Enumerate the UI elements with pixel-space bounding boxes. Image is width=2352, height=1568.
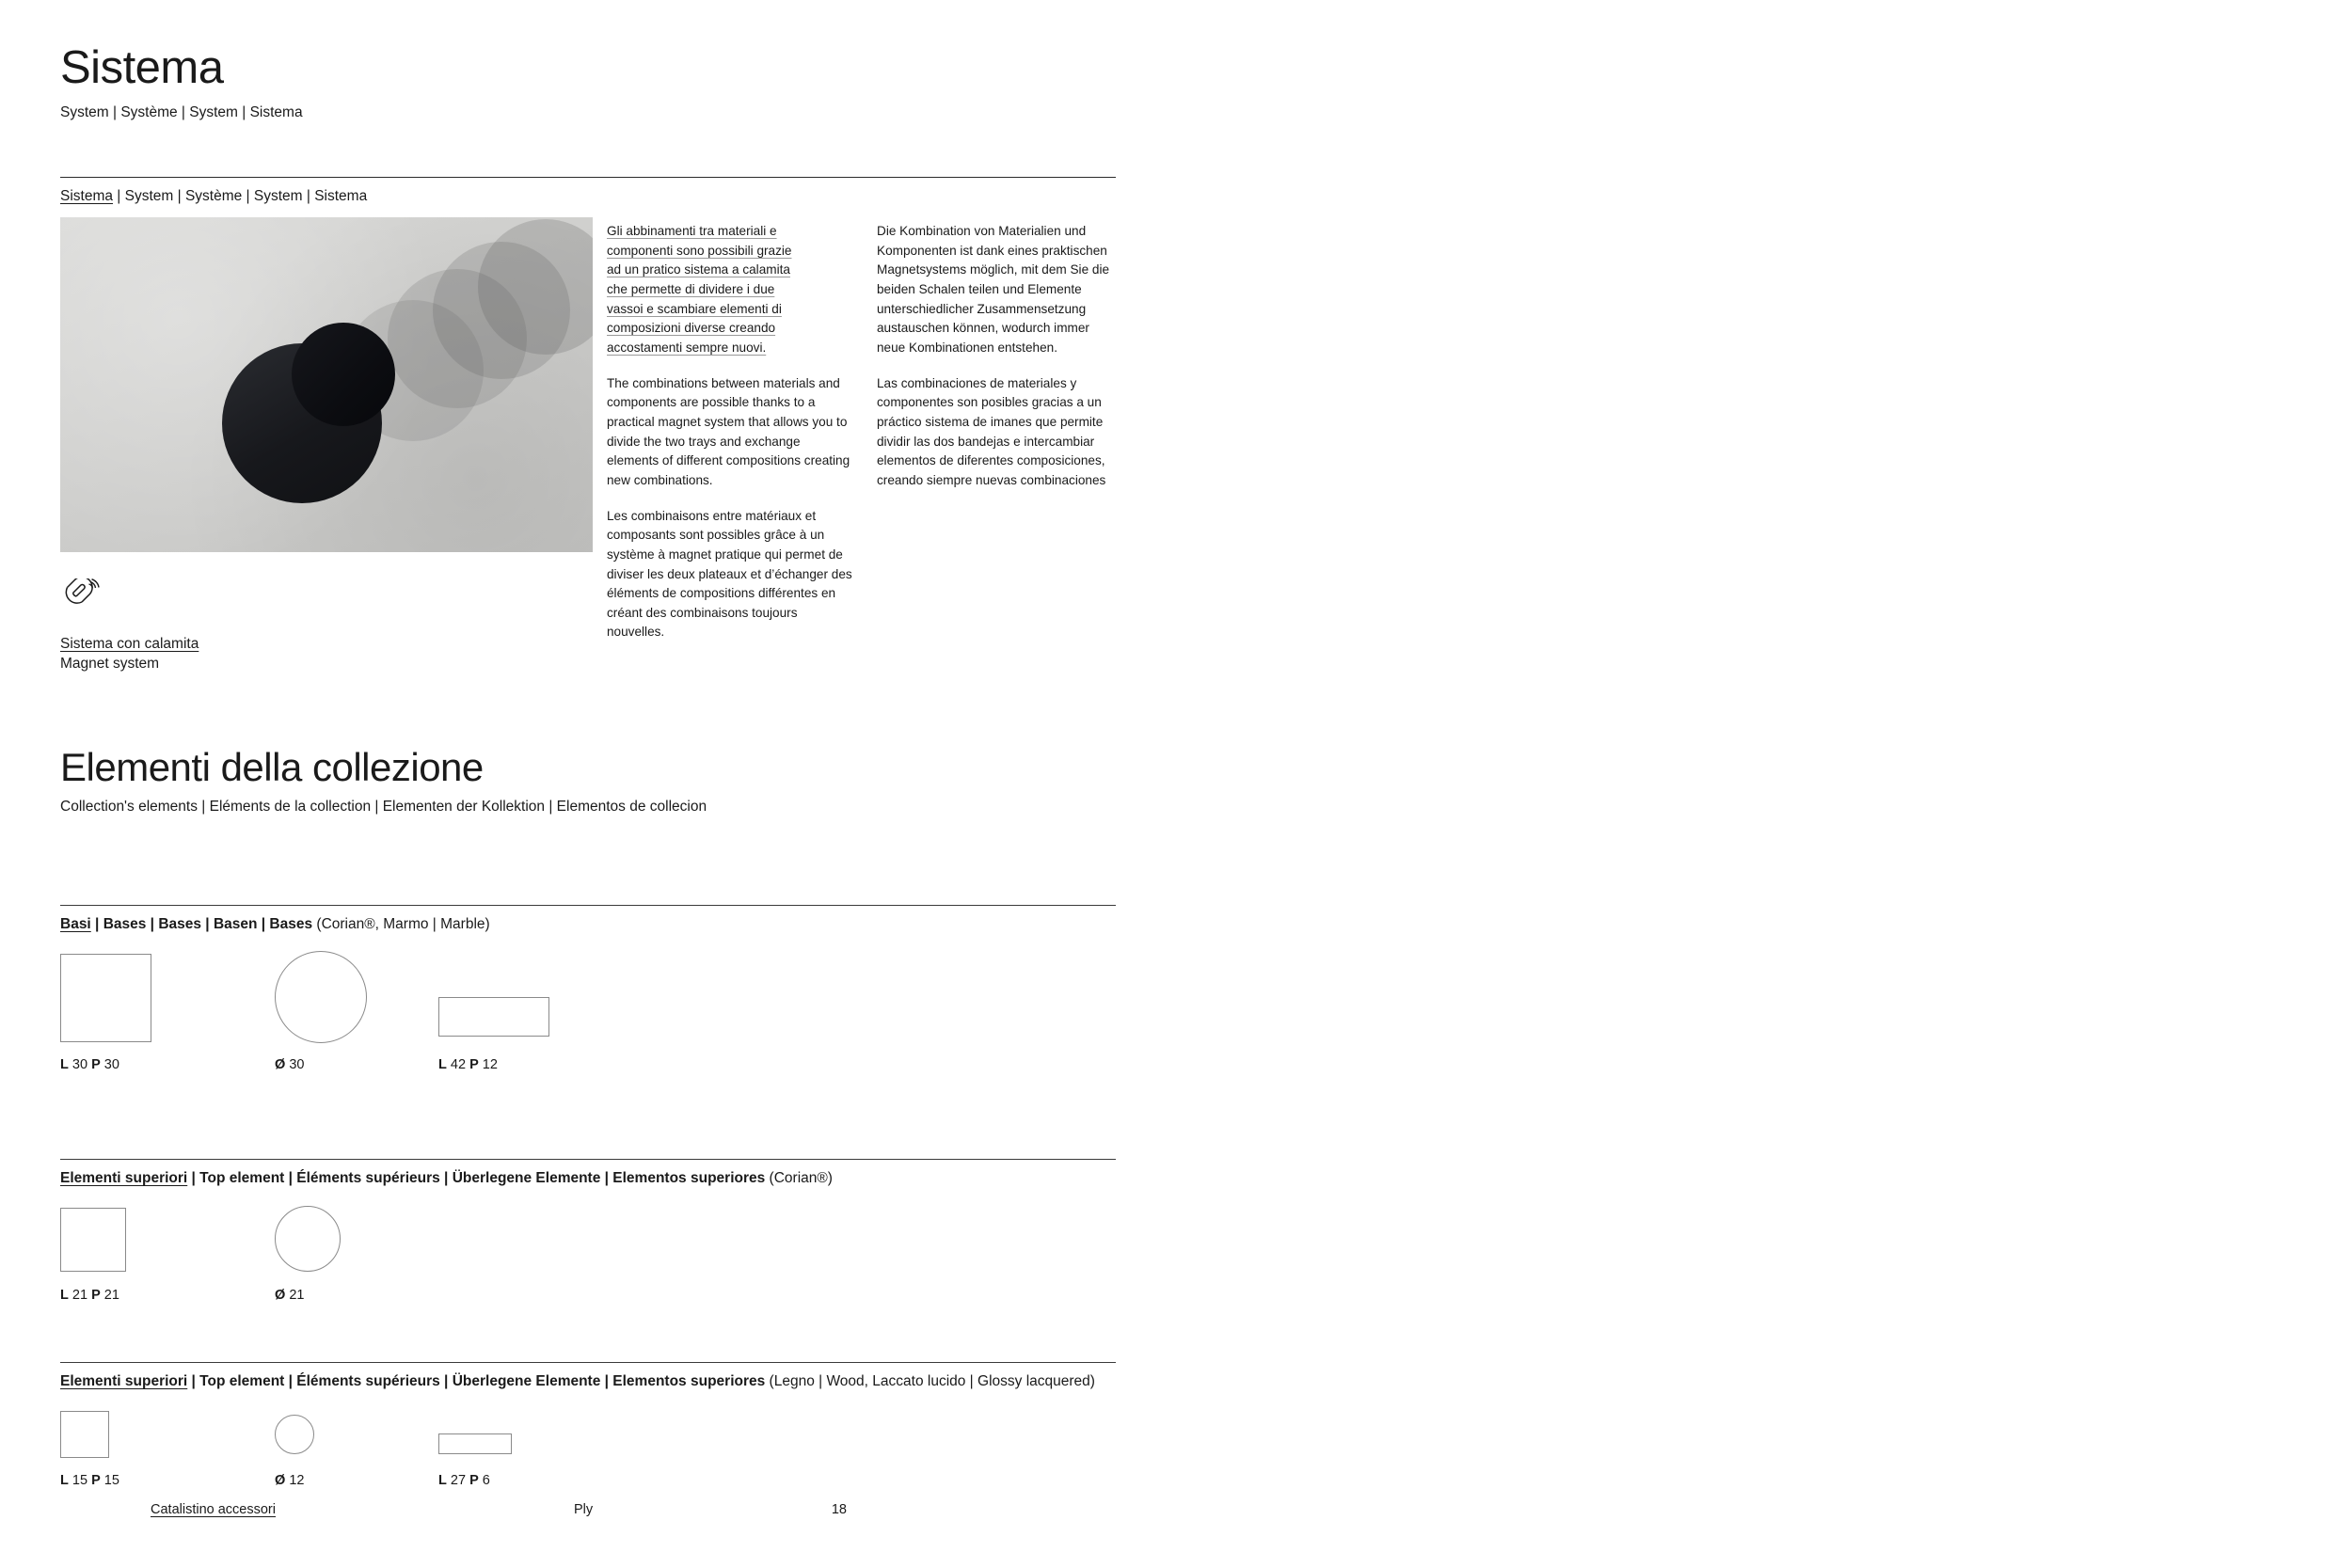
right-page: Finiture Finishes | Finitions | Endet | …: [1176, 0, 2352, 1568]
left-page: Sistema System | Système | System | Sist…: [0, 0, 1176, 1568]
element-row-top-wood-lacquer: Elementi superiori | Top element | Éléme…: [60, 1362, 1116, 1496]
shape-square: [60, 1411, 109, 1458]
row-divider: [60, 1362, 1116, 1363]
shape-rect: [438, 997, 549, 1037]
text-column-de-es: Die Kombination von Materialien und Komp…: [877, 222, 1120, 507]
shape-circle: [275, 1415, 314, 1454]
shape-diagrams: L 15 P 15 Ø 12 L 27 P 6: [60, 1411, 1116, 1496]
element-row-label-rest: | Top element | Éléments supérieurs | Üb…: [187, 1373, 765, 1389]
shape-square: [60, 954, 151, 1042]
paragraph-spanish: Las combinaciones de materiales y compon…: [877, 374, 1120, 491]
footer-page-number: 18: [832, 1502, 847, 1517]
corian-disc: [292, 323, 395, 426]
catalog-spread: Sistema System | Système | System | Sist…: [0, 0, 2352, 1568]
magnet-caption-it: Sistema con calamita: [60, 634, 199, 654]
element-row-label-rest: | Bases | Bases | Basen | Bases: [91, 916, 312, 932]
magnet-system-photo: [60, 217, 593, 552]
element-row-label-it: Basi: [60, 916, 91, 932]
shape-square: [60, 1208, 126, 1272]
page-title: Sistema: [60, 45, 1118, 91]
element-row-label: Basi | Bases | Bases | Basen | Bases (Co…: [60, 915, 1116, 933]
element-row-label: Elementi superiori | Top element | Éléme…: [60, 1169, 1116, 1187]
dimension-label: Ø 12: [275, 1473, 304, 1488]
dimension-label: L 42 P 12: [438, 1057, 498, 1072]
element-row-label-it: Elementi superiori: [60, 1170, 187, 1186]
row-divider: [60, 905, 1116, 906]
sistema-header: Sistema System | Système | System | Sist…: [60, 45, 1118, 122]
element-row-bases: Basi | Bases | Bases | Basen | Bases (Co…: [60, 905, 1116, 1067]
shape-diagrams: L 30 P 30 Ø 30 L 42 P 12: [60, 954, 1116, 1067]
magnet-icon: [60, 604, 103, 620]
shape-circle: [275, 951, 367, 1043]
sistema-section-label-rest: | System | Système | System | Sistema: [113, 188, 367, 204]
page-subtitle: System | Système | System | Sistema: [60, 104, 1118, 122]
paragraph-italian: Gli abbinamenti tra materiali ecomponent…: [607, 222, 853, 358]
footer-brand-note: Catalistino accessori: [151, 1502, 546, 1517]
section-divider: [60, 177, 1116, 178]
footer-center-label: Ply: [546, 1502, 832, 1517]
paragraph-french: Les combinaisons entre matériaux et comp…: [607, 507, 853, 643]
row-divider: [60, 1159, 1116, 1160]
dimension-label: Ø 30: [275, 1057, 304, 1072]
text-column-it-en-fr: Gli abbinamenti tra materiali ecomponent…: [607, 222, 853, 658]
dimension-label: L 21 P 21: [60, 1288, 119, 1303]
magnet-system-caption-block: Sistema con calamita Magnet system: [60, 578, 199, 673]
dimension-label: L 27 P 6: [438, 1473, 490, 1488]
element-row-label-paren: (Corian®, Marmo | Marble): [312, 916, 490, 932]
element-row-label-paren: (Corian®): [765, 1170, 833, 1186]
shape-diagrams: L 21 P 21 Ø 21: [60, 1208, 1116, 1302]
sistema-section-label: Sistema | System | Système | System | Si…: [60, 187, 367, 205]
dimension-label: L 30 P 30: [60, 1057, 119, 1072]
element-row-label-rest: | Top element | Éléments supérieurs | Üb…: [187, 1170, 765, 1186]
element-row-label-paren: (Legno | Wood, Laccato lucido | Glossy l…: [765, 1373, 1095, 1389]
element-row-label-it: Elementi superiori: [60, 1373, 187, 1389]
shape-circle: [275, 1206, 341, 1272]
element-row-top-corian: Elementi superiori | Top element | Éléme…: [60, 1159, 1116, 1302]
dimension-label: Ø 21: [275, 1288, 304, 1303]
magnet-caption: Sistema con calamita Magnet system: [60, 634, 199, 673]
sistema-section-label-it: Sistema: [60, 188, 113, 204]
paragraph-english: The combinations between materials and c…: [607, 374, 853, 491]
left-page-footer: Catalistino accessori Ply 18: [151, 1502, 847, 1517]
paragraph-german: Die Kombination von Materialien und Komp…: [877, 222, 1120, 358]
magnet-caption-en: Magnet system: [60, 654, 199, 673]
collection-title: Elementi della collezione: [60, 748, 1118, 787]
element-row-label: Elementi superiori | Top element | Éléme…: [60, 1372, 1116, 1390]
collection-subtitle: Collection's elements | Eléments de la c…: [60, 799, 1118, 816]
dimension-label: L 15 P 15: [60, 1473, 119, 1488]
shape-rect: [438, 1433, 512, 1454]
collection-header: Elementi della collezione Collection's e…: [60, 748, 1118, 816]
